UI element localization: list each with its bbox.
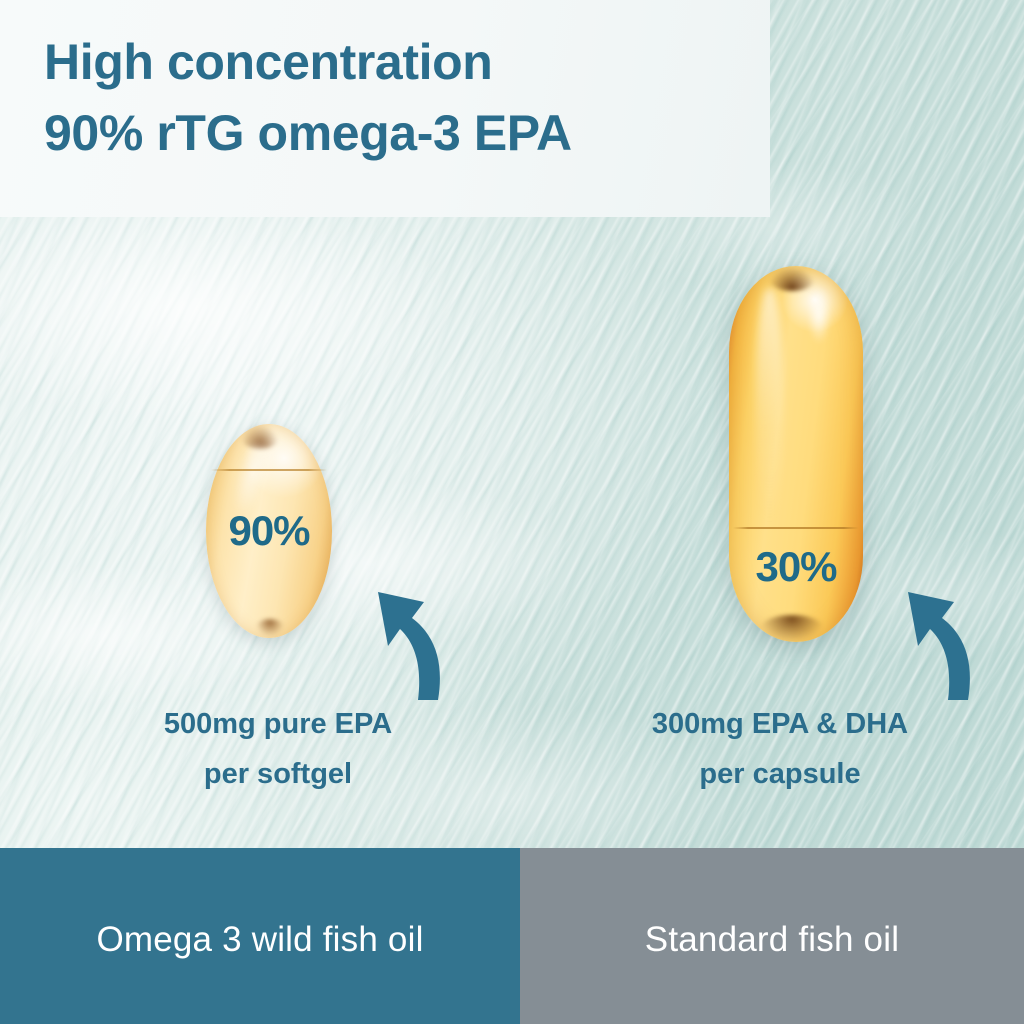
footer-label-right-text: Standard fish oil bbox=[645, 920, 899, 960]
caption-right-line-2: per capsule bbox=[570, 750, 990, 800]
softgel-small-left: 90% bbox=[206, 424, 332, 638]
headline-line-1: High concentration bbox=[44, 27, 744, 98]
capsule-large-right: 30% bbox=[729, 266, 863, 642]
capsule-top-seam bbox=[769, 267, 815, 291]
capsule-specular-highlight bbox=[807, 285, 831, 345]
curved-arrow-up-left-icon bbox=[882, 572, 982, 702]
product-comparison-infographic: High concentration 90% rTG omega-3 EPA 9… bbox=[0, 0, 1024, 1024]
caption-right-line-1: 300mg EPA & DHA bbox=[570, 700, 990, 750]
headline-line-2: 90% rTG omega-3 EPA bbox=[44, 98, 744, 169]
footer-label-left-text: Omega 3 wild fish oil bbox=[96, 920, 423, 960]
footer-label-bars: Omega 3 wild fish oil Standard fish oil bbox=[0, 848, 1024, 1024]
percent-label-left: 90% bbox=[206, 507, 332, 555]
footer-label-left: Omega 3 wild fish oil bbox=[0, 848, 520, 1024]
caption-left-line-2: per softgel bbox=[68, 750, 488, 800]
footer-label-right: Standard fish oil bbox=[520, 848, 1024, 1024]
caption-left: 500mg pure EPA per softgel bbox=[68, 700, 488, 800]
caption-right: 300mg EPA & DHA per capsule bbox=[570, 700, 990, 800]
softgel-fill-line bbox=[211, 469, 327, 471]
capsule-fill-line bbox=[733, 527, 859, 529]
curved-arrow-up-left-icon bbox=[352, 572, 452, 702]
capsule-bottom-seam bbox=[761, 615, 823, 641]
headline-banner: High concentration 90% rTG omega-3 EPA bbox=[0, 0, 770, 217]
percent-label-right: 30% bbox=[729, 543, 863, 591]
page-title: High concentration 90% rTG omega-3 EPA bbox=[44, 27, 744, 169]
capsule-highlight bbox=[756, 289, 783, 522]
softgel-bottom-seam bbox=[256, 619, 284, 636]
caption-left-line-1: 500mg pure EPA bbox=[68, 700, 488, 750]
